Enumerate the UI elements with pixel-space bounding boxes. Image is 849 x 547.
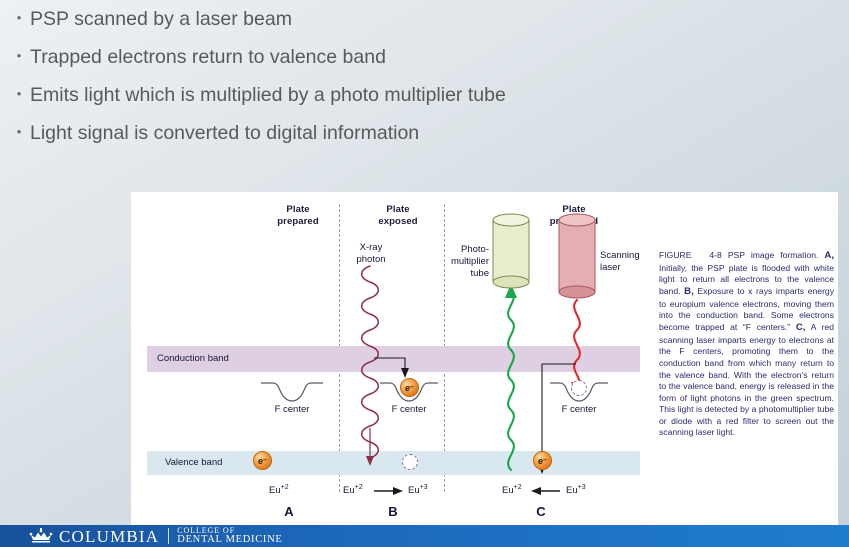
photomultiplier-tube-icon — [493, 214, 529, 288]
chem-label-a: Eu+2 — [269, 484, 289, 496]
bullet-list: • PSP scanned by a laser beam • Trapped … — [0, 0, 560, 159]
chem-label-b-left: Eu+2 — [343, 484, 363, 496]
f-center-label-c: F center — [539, 404, 619, 415]
panel-letter-a: A — [259, 504, 319, 519]
scanning-laser-label: Scanning laser — [600, 250, 664, 274]
chem-label-c-right: Eu+3 — [566, 484, 586, 496]
electron-panel-a: e– — [253, 451, 272, 470]
bullet-item: • Emits light which is multiplied by a p… — [8, 82, 560, 108]
logo-divider — [168, 528, 169, 544]
bullet-text: Trapped electrons return to valence band — [30, 44, 560, 70]
panel-letter-b: B — [363, 504, 423, 519]
caption-figure-number: 4-8 — [709, 250, 721, 260]
bullet-marker-icon: • — [8, 82, 30, 107]
bullet-item: • Trapped electrons return to valence ba… — [8, 44, 560, 70]
footer-bar: COLUMBIA COLLEGE OF DENTAL MEDICINE — [0, 525, 849, 547]
electron-hole-panel-c-fcenter — [571, 380, 587, 396]
bullet-item: • PSP scanned by a laser beam — [8, 6, 560, 32]
caption-c-marker: C, — [796, 322, 806, 333]
panel-letter-c: C — [511, 504, 571, 519]
electron-panel-c: e– — [533, 451, 552, 470]
columbia-wordmark: COLUMBIA — [59, 528, 159, 545]
bullet-text: PSP scanned by a laser beam — [30, 6, 560, 32]
bullet-marker-icon: • — [8, 44, 30, 69]
electron-hole-panel-b — [402, 454, 418, 470]
columbia-logo: COLUMBIA COLLEGE OF DENTAL MEDICINE — [28, 527, 283, 546]
photomultiplier-tube-label: Photo- multiplier tube — [419, 244, 489, 280]
figure-image: Plate prepared Plate exposed Plate proce… — [131, 192, 838, 530]
bullet-text: Light signal is converted to digital inf… — [30, 120, 560, 146]
caption-c-text: A red scanning laser imparts energy to e… — [659, 322, 834, 437]
bullet-marker-icon: • — [8, 6, 30, 31]
f-center-label-b: F center — [369, 404, 449, 415]
caption-b-marker: B, — [684, 286, 694, 297]
figure-caption: FIGURE 4-8 PSP image formation. A, Initi… — [659, 250, 834, 439]
bullet-marker-icon: • — [8, 120, 30, 145]
school-name: COLLEGE OF DENTAL MEDICINE — [177, 527, 282, 546]
caption-figure-head: FIGURE — [659, 250, 691, 260]
caption-a-marker: A, — [824, 250, 834, 261]
xray-photon-label: X-ray photon — [338, 242, 404, 266]
chem-label-c-left: Eu+2 — [502, 484, 522, 496]
caption-title: PSP image formation. — [728, 250, 819, 260]
crown-icon — [28, 528, 54, 545]
f-center-label-a: F center — [252, 404, 332, 415]
bullet-item: • Light signal is converted to digital i… — [8, 120, 560, 146]
school-line-2: DENTAL MEDICINE — [177, 535, 282, 546]
electron-panel-b-fcenter: e– — [400, 378, 419, 397]
bullet-text: Emits light which is multiplied by a pho… — [30, 82, 560, 108]
chem-label-b-right: Eu+3 — [408, 484, 428, 496]
scanning-laser-icon — [559, 214, 595, 298]
